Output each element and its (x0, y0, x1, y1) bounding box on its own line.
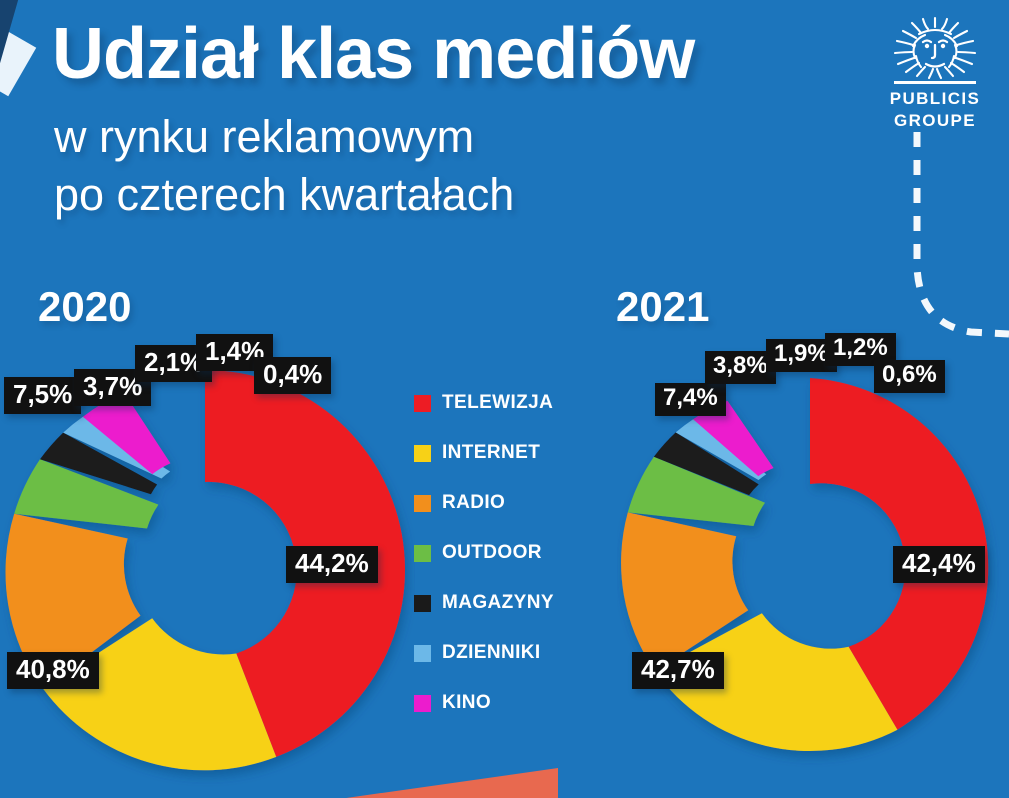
legend-swatch-telewizja (414, 395, 431, 412)
value-label-telewizja-2021: 42,4% (893, 546, 985, 583)
page-title: Udział klas mediów (52, 18, 694, 90)
logo-text-groupe: GROUPE (875, 111, 995, 132)
page-subtitle: w rynku reklamowym po czterech kwartałac… (54, 108, 514, 223)
legend-item-kino[interactable]: KINO (414, 678, 604, 728)
legend-swatch-radio (414, 495, 431, 512)
legend-swatch-dzienniki (414, 645, 431, 662)
value-label-radio-2021: 7,4% (655, 383, 726, 416)
legend-swatch-internet (414, 445, 431, 462)
chart-legend: TELEWIZJA INTERNET RADIO OUTDOOR MAGAZYN… (414, 378, 604, 728)
value-label-radio-2020: 7,5% (4, 377, 81, 414)
legend-label-internet: INTERNET (442, 442, 540, 464)
value-label-kino-2021: 0,6% (874, 360, 945, 393)
legend-swatch-magazyny (414, 595, 431, 612)
legend-label-dzienniki: DZIENNIKI (442, 642, 541, 664)
legend-swatch-outdoor (414, 545, 431, 562)
value-label-telewizja-2020: 44,2% (286, 546, 378, 583)
legend-label-magazyny: MAGAZYNY (442, 592, 554, 614)
legend-item-outdoor[interactable]: OUTDOOR (414, 528, 604, 578)
value-label-internet-2021: 42,7% (632, 652, 724, 689)
publicis-sun-icon (875, 12, 995, 88)
subtitle-line-1: w rynku reklamowym (54, 108, 514, 166)
legend-label-telewizja: TELEWIZJA (442, 392, 553, 414)
infographic-canvas: Udział klas mediów w rynku reklamowym po… (0, 0, 1009, 798)
year-heading-2021: 2021 (616, 283, 709, 331)
legend-item-dzienniki[interactable]: DZIENNIKI (414, 628, 604, 678)
legend-label-radio: RADIO (442, 492, 505, 514)
decorative-dashed-curve (899, 128, 1009, 358)
subtitle-line-2: po czterech kwartałach (54, 166, 514, 224)
legend-item-radio[interactable]: RADIO (414, 478, 604, 528)
year-heading-2020: 2020 (38, 283, 131, 331)
legend-item-telewizja[interactable]: TELEWIZJA (414, 378, 604, 428)
legend-label-kino: KINO (442, 692, 491, 714)
legend-swatch-kino (414, 695, 431, 712)
legend-item-magazyny[interactable]: MAGAZYNY (414, 578, 604, 628)
legend-item-internet[interactable]: INTERNET (414, 428, 604, 478)
legend-label-outdoor: OUTDOOR (442, 542, 542, 564)
value-label-kino-2020: 0,4% (254, 357, 331, 394)
logo-text-publicis: PUBLICIS (875, 89, 995, 110)
publicis-groupe-logo: PUBLICIS GROUPE (875, 12, 995, 131)
value-label-internet-2020: 40,8% (7, 652, 99, 689)
